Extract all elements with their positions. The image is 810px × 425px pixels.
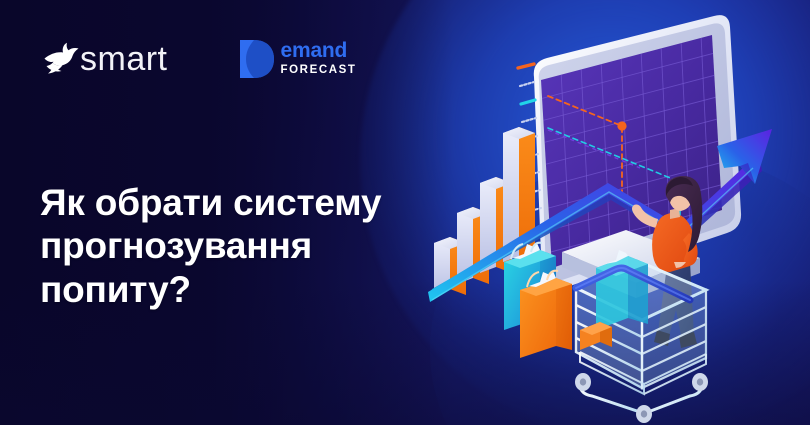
page-title: Як обрати систему прогнозування попиту? [40, 181, 460, 312]
logo-demand-forecast[interactable]: emand FORECAST [238, 38, 357, 80]
logo-forecast-word: FORECAST [281, 65, 357, 77]
logo-smart[interactable]: smart [40, 42, 168, 76]
logo-row: smart emand FORECAST [40, 38, 357, 80]
logo-emand-word: emand [281, 40, 357, 61]
logo-demand-forecast-text: emand FORECAST [281, 38, 357, 77]
hummingbird-icon [40, 42, 80, 76]
logo-d-letter-icon [238, 38, 276, 80]
logo-smart-word: smart [80, 42, 168, 76]
promo-banner: smart emand FORECAST Як обрати систему п… [0, 0, 810, 425]
